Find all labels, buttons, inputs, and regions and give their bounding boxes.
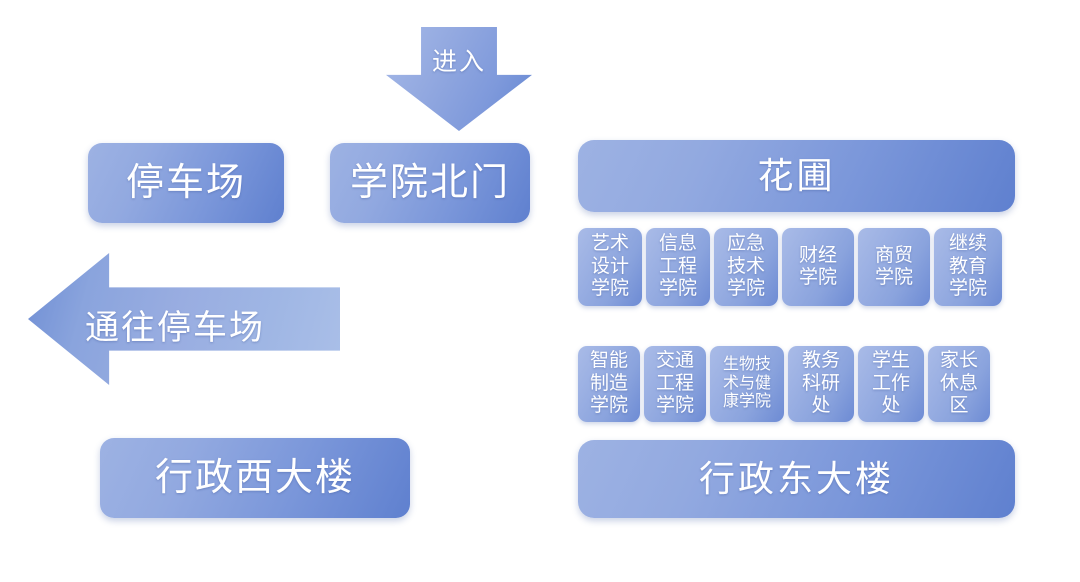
department-tile[interactable]: 智能 制造 学院 — [578, 346, 640, 422]
department-tile-label: 艺术 设计 学院 — [591, 233, 629, 300]
department-tile[interactable]: 继续 教育 学院 — [934, 228, 1002, 306]
east-admin-building-block[interactable]: 行政东大楼 — [578, 440, 1015, 518]
department-tile-label: 商贸 学院 — [875, 245, 913, 290]
department-tile-label: 学生 工作 处 — [872, 350, 910, 417]
department-tile[interactable]: 信息 工程 学院 — [646, 228, 710, 306]
department-tile-label: 生物技 术与健 康学院 — [723, 356, 771, 413]
department-tile[interactable]: 生物技 术与健 康学院 — [710, 346, 784, 422]
department-tile[interactable]: 应急 技术 学院 — [714, 228, 778, 306]
to-parking-arrow-label: 通往停车场 — [85, 300, 265, 349]
department-tile-label: 家长 休息 区 — [940, 350, 978, 417]
entrance-arrow-label: 进入 — [427, 42, 491, 78]
department-tile-label: 继续 教育 学院 — [949, 233, 987, 300]
department-tile-label: 教务 科研 处 — [802, 350, 840, 417]
department-tile[interactable]: 财经 学院 — [782, 228, 854, 306]
department-tile[interactable]: 家长 休息 区 — [928, 346, 990, 422]
department-tile-label: 交通 工程 学院 — [656, 350, 694, 417]
department-tile[interactable]: 学生 工作 处 — [858, 346, 924, 422]
department-tile-label: 财经 学院 — [799, 245, 837, 290]
north-gate-block[interactable]: 学院北门 — [330, 143, 530, 223]
parking-lot-block[interactable]: 停车场 — [88, 143, 284, 223]
department-tile-label: 信息 工程 学院 — [659, 233, 697, 300]
campus-map-diagram: 进入 停车场 学院北门 通往停车场 行政西大楼 花圃 艺术 设计 学院信息 工程… — [0, 0, 1080, 582]
department-tile-label: 应急 技术 学院 — [727, 233, 765, 300]
department-tile[interactable]: 交通 工程 学院 — [644, 346, 706, 422]
department-tile[interactable]: 商贸 学院 — [858, 228, 930, 306]
department-tile[interactable]: 艺术 设计 学院 — [578, 228, 642, 306]
department-tile[interactable]: 教务 科研 处 — [788, 346, 854, 422]
flower-garden-block[interactable]: 花圃 — [578, 140, 1015, 212]
department-tile-label: 智能 制造 学院 — [590, 350, 628, 417]
west-admin-building-block[interactable]: 行政西大楼 — [100, 438, 410, 518]
